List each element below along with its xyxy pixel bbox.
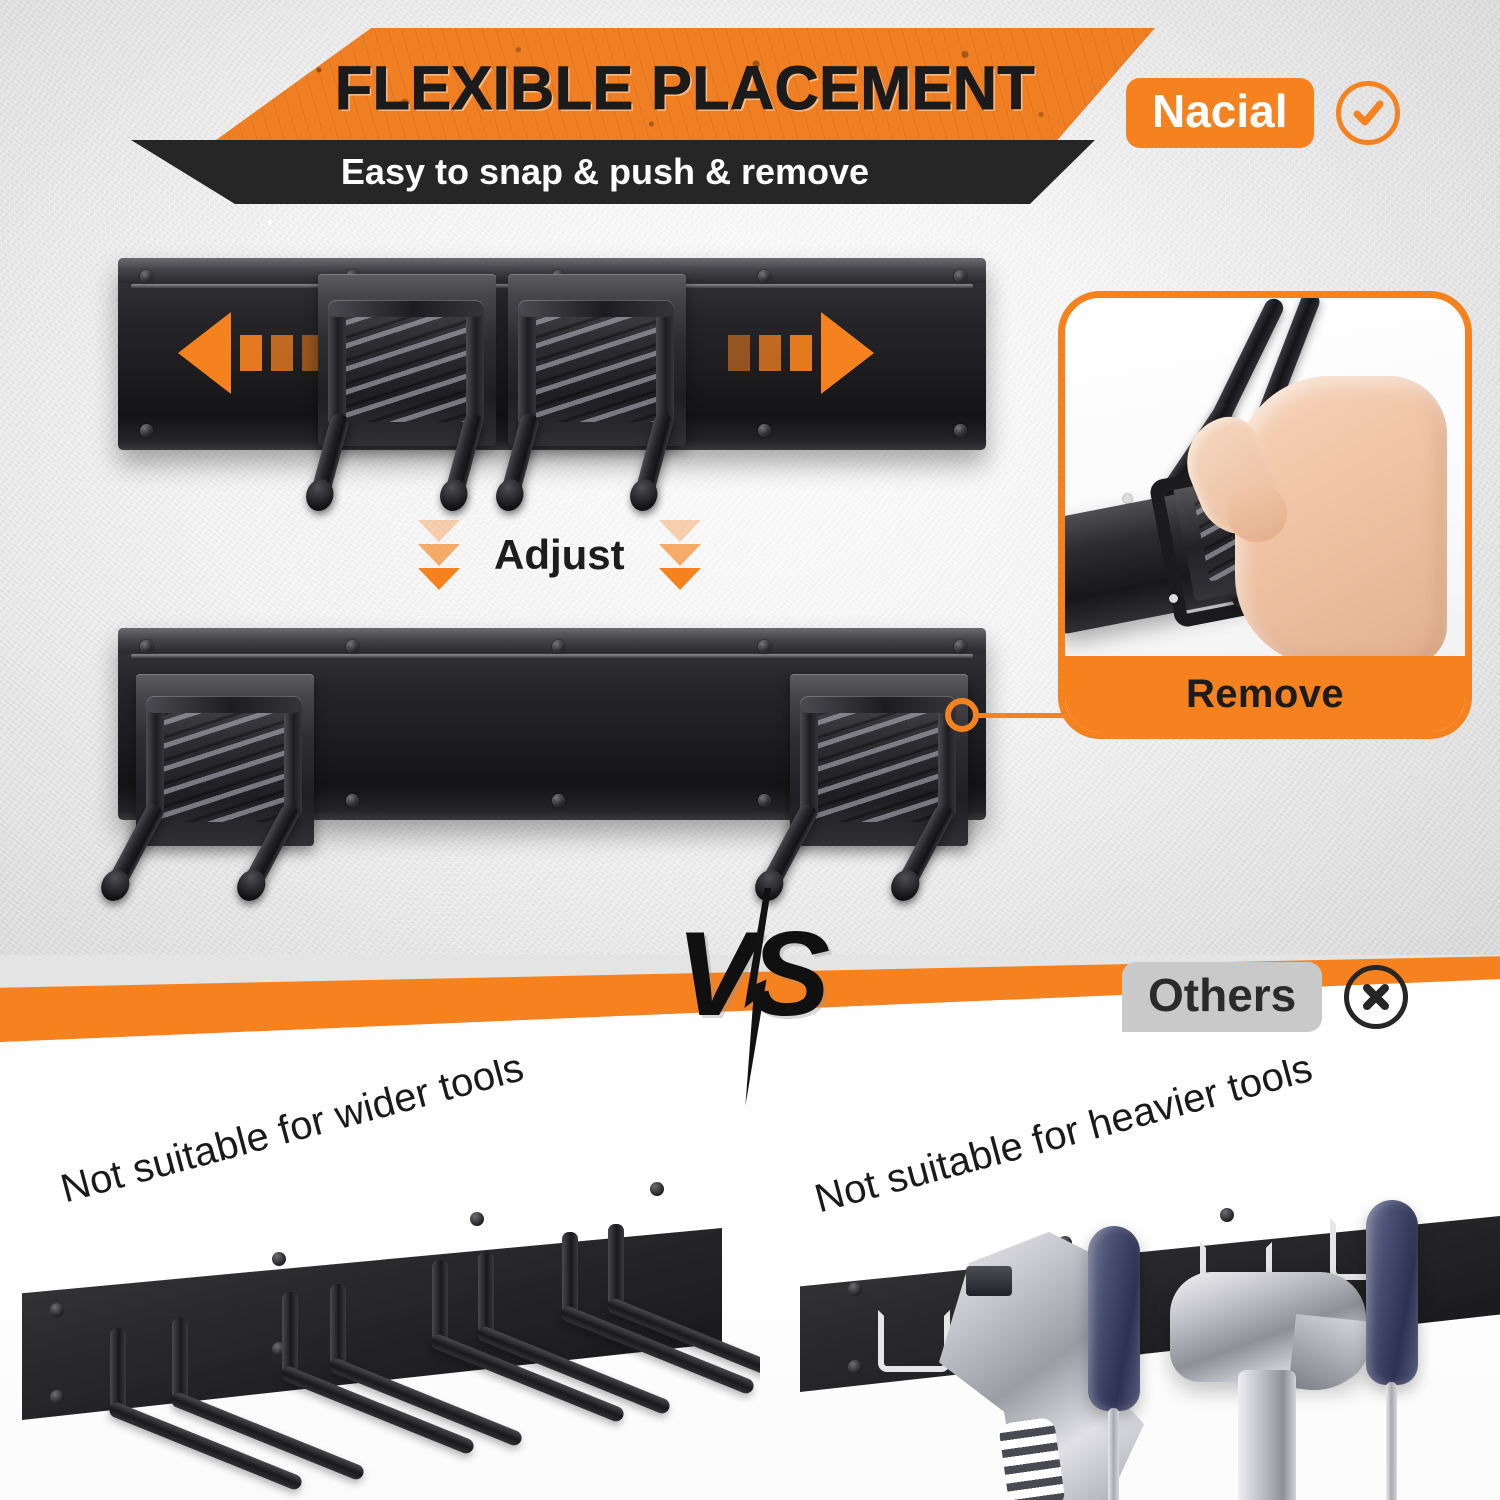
x-circle-icon [1344, 965, 1408, 1029]
rail-screw [758, 794, 771, 807]
finger [1227, 484, 1287, 542]
chevron-down-icon [659, 520, 701, 542]
chevron-down-icon [418, 568, 460, 590]
check-circle-icon [1336, 81, 1400, 145]
hook-module-ribs [338, 308, 477, 421]
hook-post [172, 1318, 188, 1396]
arrow-left-group [178, 312, 324, 394]
header-banner: FLEXIBLE PLACEMENT Easy to snap & push &… [95, 28, 1155, 204]
hook-post [608, 1224, 624, 1302]
hammer-head [1170, 1272, 1366, 1382]
screwdriver-shaft [1386, 1382, 1397, 1500]
arrow-right-icon [821, 312, 874, 394]
hook-post [432, 1260, 448, 1338]
hook-module[interactable] [136, 674, 314, 906]
others-badge-label: Others [1122, 962, 1322, 1032]
hook-frame-bar [800, 696, 818, 820]
arrow-right-group [728, 312, 874, 394]
hook-frame-bar [284, 696, 302, 820]
plate-screw [50, 1390, 64, 1404]
rail-bottom-groove [131, 654, 973, 658]
rail-screw [140, 270, 153, 283]
hook-post [330, 1284, 346, 1362]
rail-screw [954, 270, 967, 283]
banner-subtitle: Easy to snap & push & remove [185, 146, 1025, 198]
arrow-dash [759, 335, 781, 371]
rail-screw [954, 640, 967, 653]
others-badge: Others [1122, 962, 1408, 1032]
hook-module-ribs [156, 708, 295, 821]
rail-screw [346, 640, 359, 653]
hook-tip [232, 865, 271, 906]
rail-screw [758, 640, 771, 653]
chevron-down-icon [418, 520, 460, 542]
rail-screw [758, 424, 771, 437]
plate-screw [470, 1212, 484, 1226]
arrow-dash [240, 335, 262, 371]
rail-screw [552, 640, 565, 653]
hook-post [562, 1232, 578, 1310]
remove-callout: Remove [1058, 291, 1472, 739]
chevron-down-icon [659, 544, 701, 566]
rail-screw [552, 794, 565, 807]
hook-frame-bar [518, 300, 674, 317]
plate-screw [1220, 1208, 1234, 1222]
plate-screw [650, 1182, 664, 1196]
hook-frame-bar [656, 300, 674, 428]
infographic-root: FLEXIBLE PLACEMENT Easy to snap & push &… [0, 0, 1500, 1500]
arrow-dash [790, 335, 812, 371]
screwdriver-shaft [1108, 1408, 1119, 1500]
adjust-label: Adjust [494, 531, 625, 579]
plate-screw [848, 1282, 862, 1296]
hook-module-ribs [810, 708, 949, 821]
remove-label: Remove [1186, 672, 1344, 717]
hand-illustration [1235, 376, 1447, 666]
brand-badge-label: Nacial [1126, 78, 1314, 148]
hook-frame-bar [800, 696, 956, 713]
comparison-panel-right: Not suitable for heavier tools [790, 1060, 1500, 1500]
callout-connector-line [975, 713, 1067, 718]
hook-frame-bar [328, 300, 484, 317]
versus-label: VS [676, 914, 824, 1034]
chevron-stack-left [418, 520, 460, 590]
plate-screw [848, 1360, 862, 1374]
remove-callout-photo [1065, 298, 1465, 670]
comparison-panel-left: Not suitable for wider tools [0, 1060, 760, 1500]
hook-module[interactable] [508, 274, 686, 506]
wire-hook [878, 1310, 950, 1372]
hook-frame-bar [518, 300, 536, 428]
hook-frame-bar [328, 300, 346, 428]
arrow-dash [728, 335, 750, 371]
hook-post [478, 1252, 494, 1330]
comparison-right-label: Not suitable for heavier tools [810, 1060, 1317, 1222]
hook-frame-bar [146, 696, 302, 713]
hook-frame-bar [146, 696, 164, 820]
hook-module-ribs [528, 308, 667, 421]
arrow-dash [271, 335, 293, 371]
chevron-down-icon [418, 544, 460, 566]
rail-screw [140, 640, 153, 653]
rail-screw [346, 794, 359, 807]
remove-callout-footer: Remove [1065, 656, 1465, 732]
hook-tip [886, 865, 925, 906]
plate-screw [50, 1303, 64, 1317]
rail-screw [758, 270, 771, 283]
hook-frame-bar [466, 300, 484, 428]
screwdriver-handle [1088, 1226, 1140, 1411]
rail-screw [1169, 594, 1178, 603]
comparison-left-label: Not suitable for wider tools [56, 1060, 528, 1212]
chevron-down-icon [659, 568, 701, 590]
hook-post [282, 1292, 298, 1370]
rail-screw [1123, 494, 1132, 503]
banner-title: FLEXIBLE PLACEMENT [285, 42, 1085, 134]
callout-connector-dot [945, 698, 979, 732]
hook-post [110, 1328, 126, 1406]
chevron-stack-right [659, 520, 701, 590]
hammer-handle [1238, 1370, 1296, 1500]
plate-screw [272, 1252, 286, 1266]
screwdriver-handle [1366, 1200, 1418, 1385]
rail-bottom [118, 628, 986, 878]
hammer-claw [1288, 1314, 1375, 1396]
brand-badge: Nacial [1126, 78, 1400, 148]
arrow-left-icon [178, 312, 231, 394]
rail-top [118, 258, 986, 508]
hook-module[interactable] [318, 274, 496, 506]
hook-module[interactable] [790, 674, 968, 906]
rail-screw [140, 424, 153, 437]
pliers-jaw [966, 1266, 1012, 1296]
rail-screw [954, 424, 967, 437]
adjust-indicator: Adjust [418, 520, 701, 590]
